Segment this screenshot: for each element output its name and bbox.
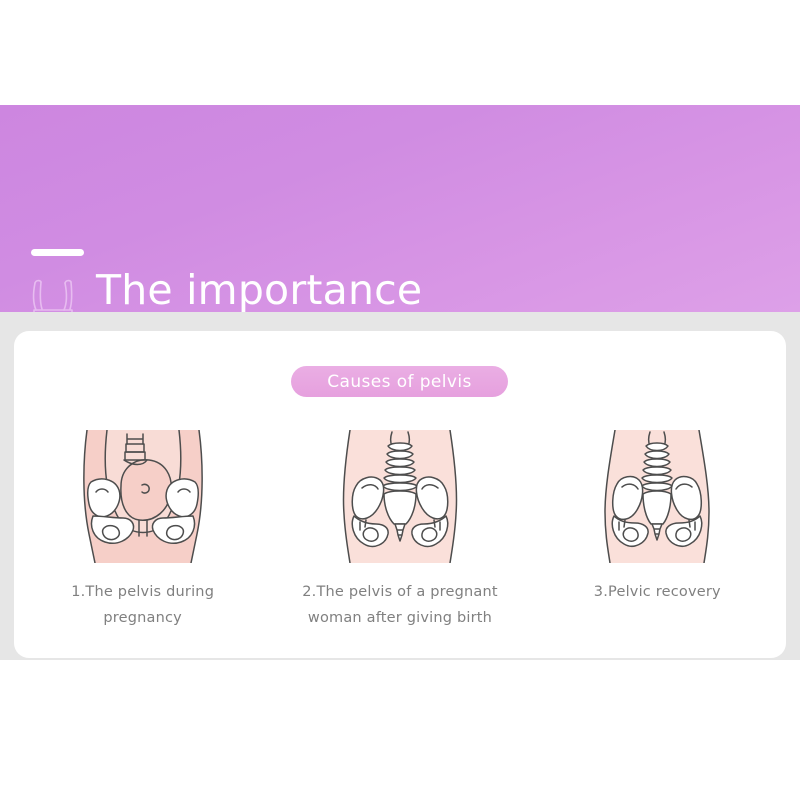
- figure-pelvis-after-birth: 2.The pelvis of a pregnant woman after g…: [271, 430, 528, 630]
- section-badge-label: Causes of pelvis: [327, 372, 471, 392]
- shapewear-bodysuit-icon: [22, 277, 84, 312]
- pregnant-pelvis-with-fetus-diagram: [63, 430, 223, 563]
- figure-row: 1.The pelvis during pregnancy: [14, 430, 786, 630]
- figure-pelvis-during-pregnancy: 1.The pelvis during pregnancy: [14, 430, 271, 630]
- figure-caption: 3.Pelvic recovery: [547, 579, 767, 605]
- figure-caption: 1.The pelvis during pregnancy: [33, 579, 253, 631]
- section-badge: Causes of pelvis: [291, 366, 508, 397]
- title-accent-dash: [31, 249, 84, 256]
- figure-caption: 2.The pelvis of a pregnant woman after g…: [285, 579, 515, 631]
- widened-pelvis-skeleton-diagram: [320, 430, 480, 563]
- figure-pelvic-recovery: 3.Pelvic recovery: [529, 430, 786, 630]
- recovered-pelvis-skeleton-diagram: [577, 430, 737, 563]
- infographic-page: The importance of internal repair Shapew…: [0, 0, 800, 800]
- header-banner: The importance of internal repair Shapew…: [0, 105, 800, 312]
- page-title: The importance of internal repair: [96, 268, 756, 312]
